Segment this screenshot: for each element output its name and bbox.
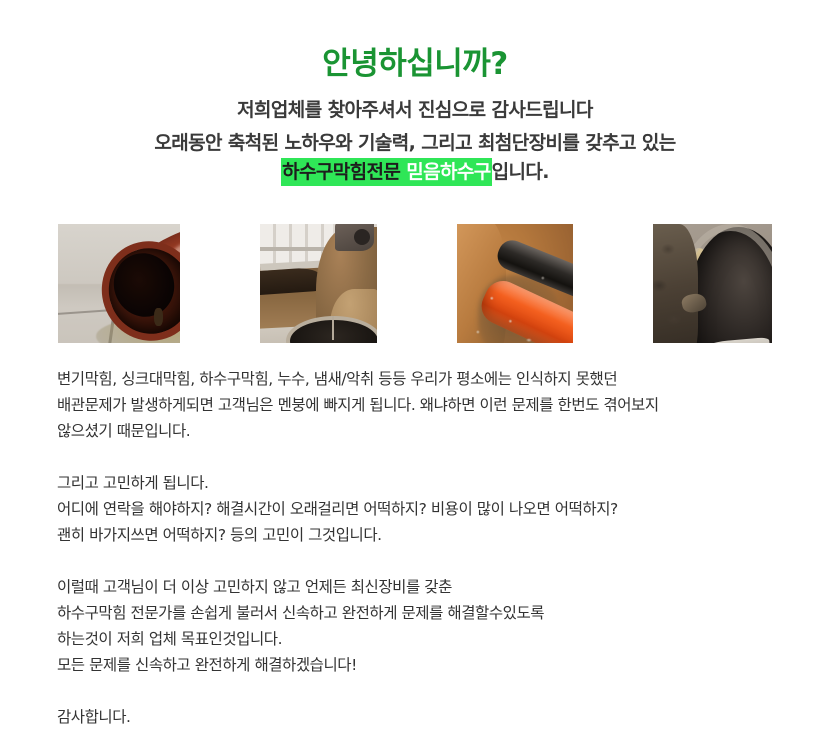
photo-stone-culvert bbox=[653, 224, 772, 343]
hero-subline-experience: 오래동안 축척된 노하우와 기술력, 그리고 최첨단장비를 갖추고 있는 bbox=[0, 129, 830, 158]
body-copy: 변기막힘, 싱크대막힘, 하수구막힘, 누수, 냄새/악취 등등 우리가 평소에… bbox=[57, 366, 807, 730]
page-title: 안녕하십니까? bbox=[0, 45, 830, 84]
highlight-specialty-text: 하수구막힘전문 bbox=[282, 161, 406, 183]
body-paragraph-worries: 그리고 고민하게 됩니다. 어디에 연락을 해야하지? 해결시간이 오래걸리면 … bbox=[57, 470, 807, 548]
company-highlight: 하수구막힘전문 믿음하수구 bbox=[281, 158, 492, 187]
excavator-pivot bbox=[354, 229, 370, 245]
hero-section: 안녕하십니까? 저희업체를 찾아주셔서 진심으로 감사드립니다 오래동안 축척된… bbox=[0, 0, 830, 186]
body-paragraph-thanks: 감사합니다. bbox=[57, 704, 807, 730]
hero-company-line: 하수구막힘전문 믿음하수구입니다. bbox=[0, 158, 830, 187]
dark-soil-layer bbox=[260, 266, 321, 295]
highlight-brand-text: 믿음하수구 bbox=[406, 161, 490, 183]
mud-debris-pile bbox=[653, 224, 698, 343]
hero-subline-thanks: 저희업체를 찾아주셔서 진심으로 감사드립니다 bbox=[0, 96, 830, 125]
excavator-bucket bbox=[335, 224, 375, 251]
gravel-speckles bbox=[457, 224, 573, 343]
company-line-tail: 입니다. bbox=[492, 161, 549, 183]
photo-gallery-strip bbox=[18, 208, 812, 343]
photo-excavation-manhole bbox=[260, 224, 376, 343]
photo-pipes-in-trench bbox=[457, 224, 573, 343]
photo-brown-sewer-pipe bbox=[58, 224, 180, 343]
pipe-drip bbox=[154, 308, 163, 326]
body-paragraph-problem: 변기막힘, 싱크대막힘, 하수구막힘, 누수, 냄새/악취 등등 우리가 평소에… bbox=[57, 366, 807, 444]
body-paragraph-promise: 이럴때 고객님이 더 이상 고민하지 않고 언제든 최신장비를 갖춘 하수구막힘… bbox=[57, 574, 807, 678]
